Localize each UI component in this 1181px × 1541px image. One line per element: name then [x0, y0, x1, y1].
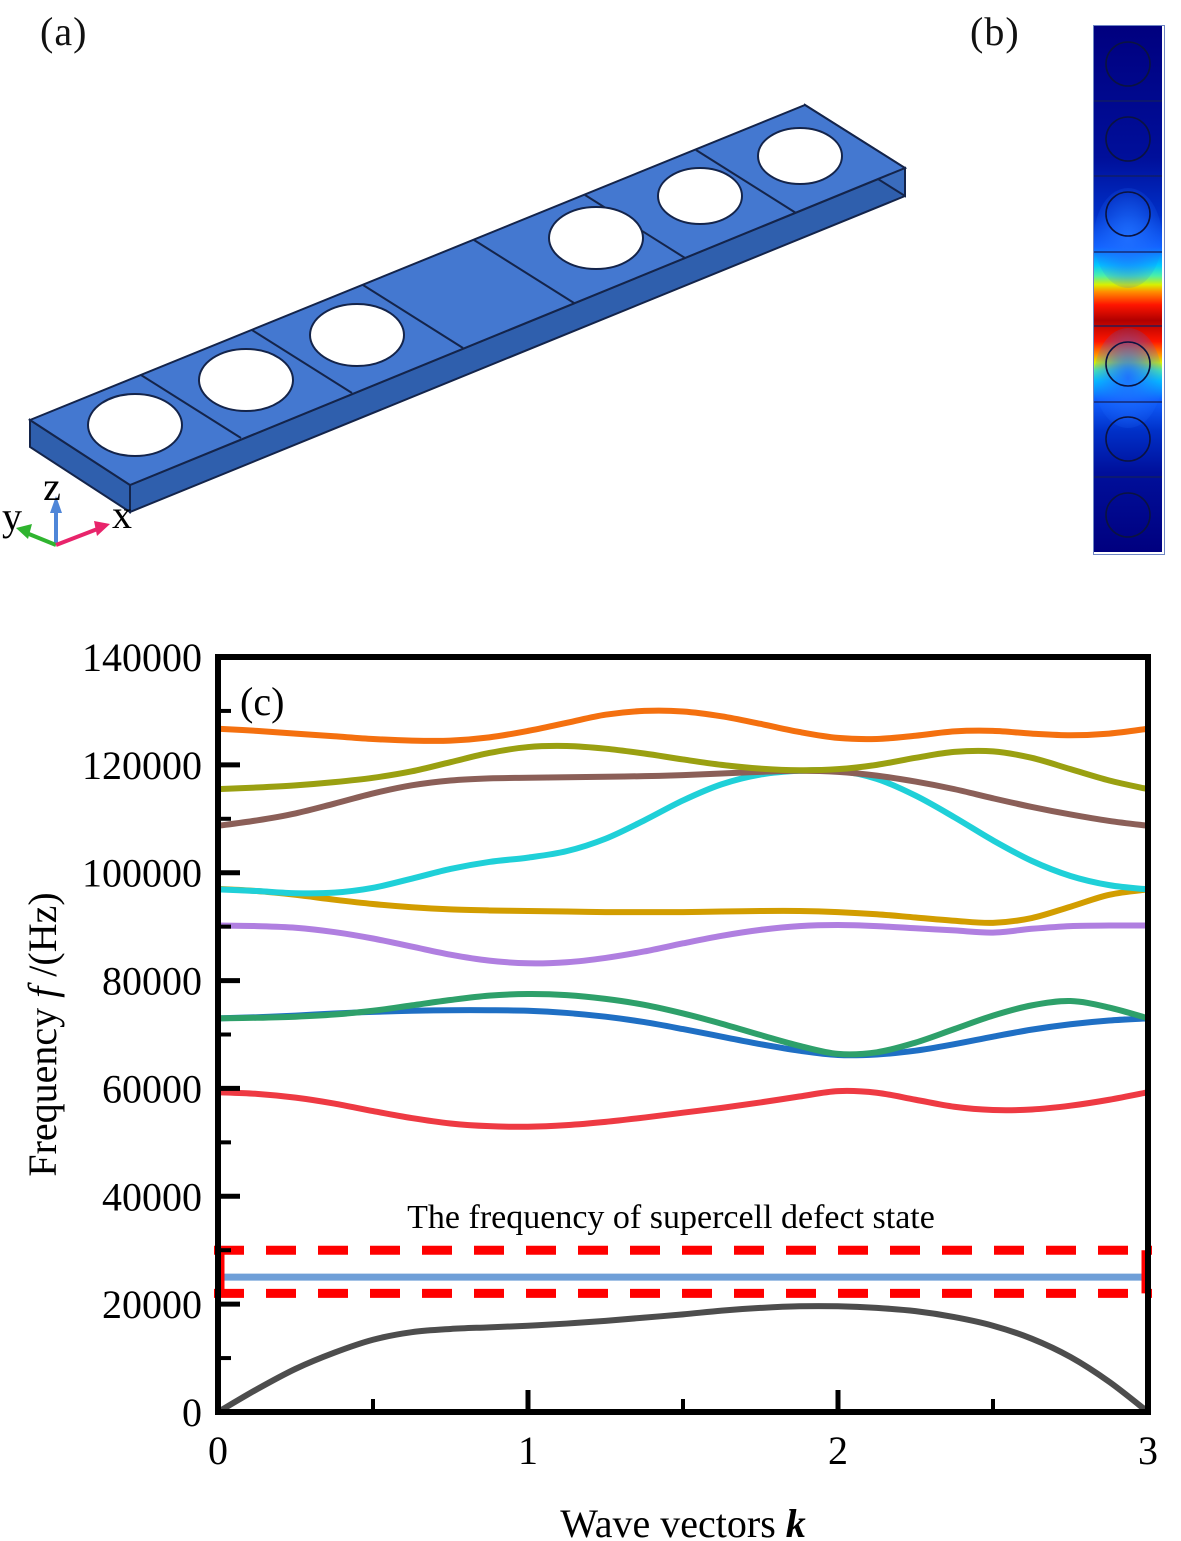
field-gradient — [1094, 26, 1162, 552]
panel-c-label: (c) — [240, 679, 284, 724]
band-curve-band-1-acoustic — [218, 1306, 1148, 1412]
x-axis-title: Wave vectors k — [560, 1501, 806, 1541]
x-tick-label: 3 — [1138, 1428, 1158, 1473]
band-curve-band-2 — [218, 1091, 1148, 1127]
x-tick-label: 2 — [828, 1428, 848, 1473]
x-tick-label: 0 — [208, 1428, 228, 1473]
panel-c-band-structure: 0200004000060000800001000001200001400000… — [0, 600, 1181, 1541]
y-axis-title: Frequency f /(Hz) — [20, 892, 65, 1176]
band-structure-svg: 0200004000060000800001000001200001400000… — [0, 600, 1181, 1541]
band-curve-band-4 — [218, 994, 1148, 1054]
x-tick-label: 1 — [518, 1428, 538, 1473]
band-curve-band-7 — [218, 770, 1148, 893]
band-curve-band-5 — [218, 925, 1148, 963]
defect-state-annotation: The frequency of supercell defect state — [407, 1199, 935, 1236]
axis-y-label: y — [2, 494, 22, 539]
y-tick-label: 60000 — [102, 1066, 202, 1111]
band-curves — [218, 711, 1148, 1412]
axis-x-label: x — [112, 492, 132, 537]
y-tick-label: 120000 — [82, 743, 202, 788]
band-curve-band-10 — [218, 711, 1148, 741]
y-tick-label: 40000 — [102, 1174, 202, 1219]
panel-a-geometry: (a) — [0, 0, 950, 600]
defect-mode-heatmap — [1093, 25, 1165, 555]
y-tick-label: 20000 — [102, 1282, 202, 1327]
y-tick-label: 100000 — [82, 851, 202, 896]
y-tick-label: 80000 — [102, 959, 202, 1004]
heatmap-svg — [1094, 26, 1162, 552]
band-curve-band-3 — [218, 1010, 1148, 1055]
y-tick-label: 140000 — [82, 635, 202, 680]
axis-z-label: z — [43, 464, 61, 509]
supercell-3d-render: z y x — [0, 0, 950, 600]
tick-labels: 0200004000060000800001000001200001400000… — [82, 635, 1158, 1473]
adjacent-cell-glow-bottom — [1094, 328, 1162, 428]
adjacent-cell-glow-top — [1094, 188, 1162, 288]
band-curve-band-6 — [218, 889, 1148, 923]
y-tick-label: 0 — [182, 1390, 202, 1435]
defect-state-band — [214, 1250, 1152, 1293]
panel-b-label: (b) — [970, 8, 1020, 55]
band-curve-band-9 — [218, 746, 1148, 789]
